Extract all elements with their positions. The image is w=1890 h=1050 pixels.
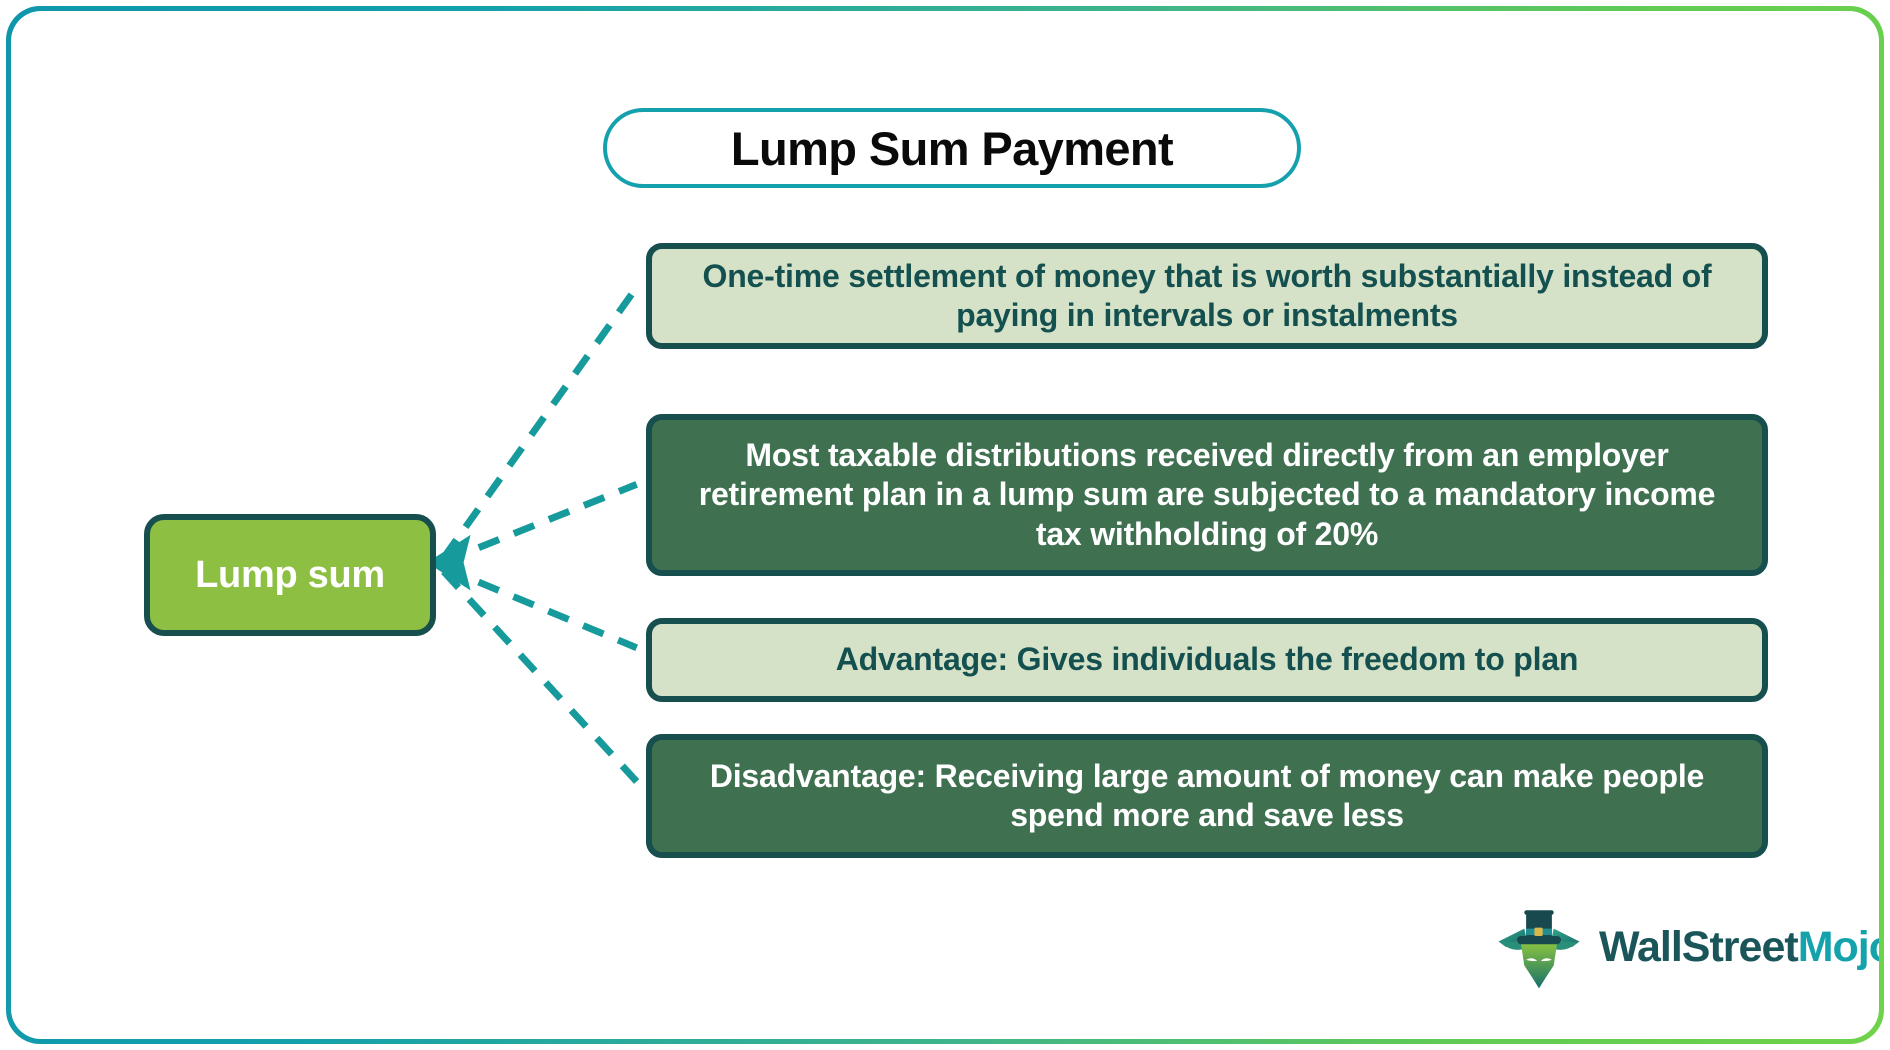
logo-wordmark-accent: Mojo bbox=[1798, 923, 1879, 971]
logo-wordmark-primary: WallStreet bbox=[1599, 923, 1798, 971]
point-box-taxation[interactable]: Most taxable distributions received dire… bbox=[646, 414, 1768, 576]
source-node-label: Lump sum bbox=[195, 554, 385, 597]
point-text: Advantage: Gives individuals the freedom… bbox=[836, 640, 1579, 679]
bull-with-tophat-icon bbox=[1493, 901, 1585, 993]
logo-wordmark: WallStreetMojo bbox=[1599, 926, 1879, 969]
page-title: Lump Sum Payment bbox=[731, 121, 1173, 176]
point-box-disadvantage[interactable]: Disadvantage: Receiving large amount of … bbox=[646, 734, 1768, 858]
point-box-definition[interactable]: One-time settlement of money that is wor… bbox=[646, 243, 1768, 349]
connector-line-3 bbox=[444, 568, 637, 648]
page-title-pill: Lump Sum Payment bbox=[603, 108, 1301, 188]
outer-gradient-frame: Lump Sum Payment Lump sum One-time settl… bbox=[6, 6, 1884, 1044]
point-text: One-time settlement of money that is wor… bbox=[680, 257, 1734, 335]
connector-line-4 bbox=[444, 572, 637, 782]
point-text: Most taxable distributions received dire… bbox=[680, 436, 1734, 553]
infographic-root: Lump Sum Payment Lump sum One-time settl… bbox=[0, 0, 1890, 1050]
connector-line-2 bbox=[444, 484, 637, 561]
point-box-advantage[interactable]: Advantage: Gives individuals the freedom… bbox=[646, 618, 1768, 702]
brand-logo[interactable]: WallStreetMojo bbox=[1493, 899, 1879, 995]
source-node-lump-sum[interactable]: Lump sum bbox=[144, 514, 436, 636]
point-text: Disadvantage: Receiving large amount of … bbox=[680, 757, 1734, 835]
frame-inner-canvas: Lump Sum Payment Lump sum One-time settl… bbox=[11, 11, 1879, 1039]
connector-line-1 bbox=[444, 287, 637, 557]
